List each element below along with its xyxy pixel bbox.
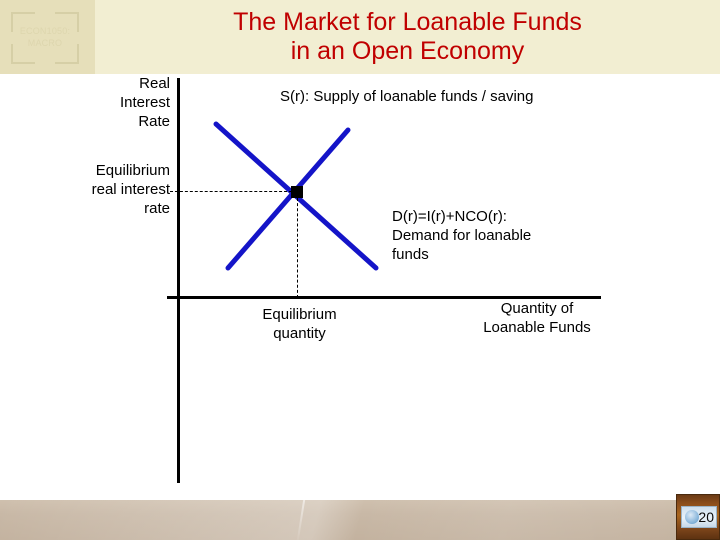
page-title: The Market for Loanable Funds in an Open… [95, 8, 720, 66]
slide-number-thumbnail: 20 [676, 494, 720, 540]
course-logo-line-2: MACRO [11, 37, 79, 49]
equilibrium-point-marker [291, 186, 303, 198]
loanable-funds-chart: Real Interest Rate Equilibrium real inte… [0, 74, 720, 500]
logo-frame: ECON1050: MACRO [11, 12, 79, 64]
course-logo-text: ECON1050: MACRO [11, 25, 79, 49]
equilibrium-rate-label-line-3: rate [50, 199, 170, 218]
equilibrium-rate-guide-line [170, 191, 292, 192]
footer-seam-line [297, 500, 305, 540]
demand-curve-label: D(r)=I(r)+NCO(r): Demand for loanable fu… [392, 207, 592, 264]
equilibrium-quantity-label-line-1: Equilibrium [232, 305, 367, 324]
slide-number-badge: 20 [681, 506, 717, 528]
slide-number-dot-icon [685, 510, 699, 524]
curves-layer [0, 74, 720, 500]
demand-curve-label-line-3: funds [392, 245, 592, 264]
equilibrium-rate-label: Equilibrium real interest rate [50, 161, 170, 218]
y-axis-label-line-3: Rate [95, 112, 170, 131]
slide-header-band: ECON1050: MACRO The Market for Loanable … [0, 0, 720, 74]
course-logo-block: ECON1050: MACRO [0, 0, 95, 74]
demand-curve-label-line-2: Demand for loanable [392, 226, 592, 245]
course-logo-line-1: ECON1050: [11, 25, 79, 37]
demand-curve-label-line-1: D(r)=I(r)+NCO(r): [392, 207, 592, 226]
equilibrium-quantity-label: Equilibrium quantity [232, 305, 367, 343]
x-axis-label-line-2: Loanable Funds [452, 318, 622, 337]
equilibrium-quantity-label-line-2: quantity [232, 324, 367, 343]
footer-texture-strip [0, 500, 720, 540]
equilibrium-rate-label-line-2: real interest [50, 180, 170, 199]
y-axis-label-line-1: Real [95, 74, 170, 93]
equilibrium-quantity-guide-line [297, 198, 298, 298]
x-axis-label-line-1: Quantity of [452, 299, 622, 318]
y-axis-label-line-2: Interest [95, 93, 170, 112]
page-title-line-1: The Market for Loanable Funds [95, 8, 720, 37]
page-title-line-2: in an Open Economy [95, 37, 720, 66]
x-axis-label: Quantity of Loanable Funds [452, 299, 622, 337]
equilibrium-rate-label-line-1: Equilibrium [50, 161, 170, 180]
y-axis-label: Real Interest Rate [95, 74, 170, 131]
slide-number-text: 20 [698, 509, 714, 525]
supply-curve-label: S(r): Supply of loanable funds / saving [280, 87, 610, 106]
